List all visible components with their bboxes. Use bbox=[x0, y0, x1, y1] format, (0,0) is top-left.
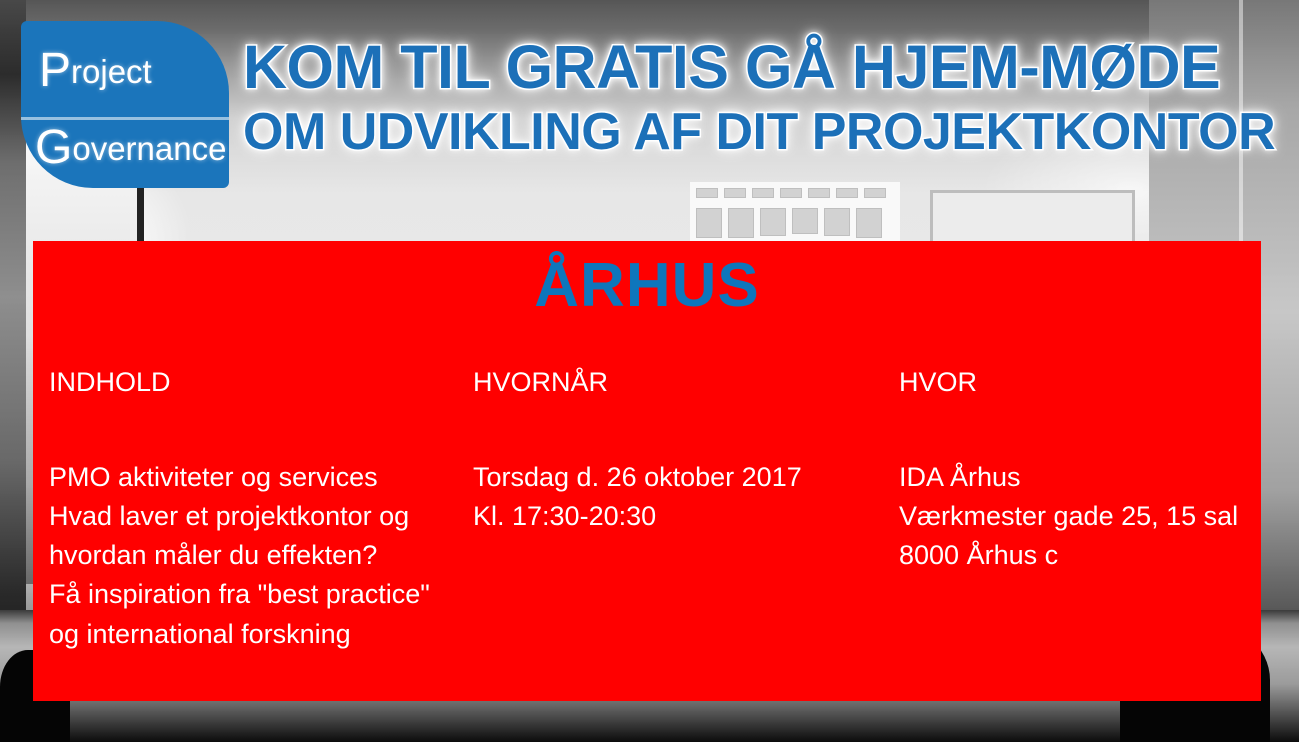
event-columns: INDHOLD PMO aktiviteter og services Hvad… bbox=[33, 369, 1261, 654]
column-line: Værkmester gade 25, 15 sal bbox=[899, 497, 1261, 536]
logo-divider bbox=[21, 117, 229, 120]
column-line: og international forskning bbox=[49, 615, 473, 654]
photo-whiteboard bbox=[690, 182, 900, 248]
column-hvornaar: HVORNÅR Torsdag d. 26 oktober 2017 Kl. 1… bbox=[473, 369, 899, 654]
photo-sticky-note bbox=[836, 188, 858, 198]
photo-sticky-note bbox=[696, 208, 722, 238]
poster-root: Project Governance KOM TIL GRATIS GÅ HJE… bbox=[0, 0, 1299, 742]
column-heading: INDHOLD bbox=[49, 369, 473, 396]
project-governance-logo: Project Governance bbox=[21, 21, 229, 188]
column-hvor: HVOR IDA Århus Værkmester gade 25, 15 sa… bbox=[899, 369, 1261, 654]
photo-sticky-note bbox=[808, 188, 830, 198]
column-line: PMO aktiviteter og services bbox=[49, 458, 473, 497]
column-line: Hvad laver et projektkontor og bbox=[49, 497, 473, 536]
logo-initial-g: G bbox=[35, 121, 72, 174]
photo-sticky-note bbox=[724, 188, 746, 198]
column-line: hvordan måler du effekten? bbox=[49, 536, 473, 575]
photo-sticky-note bbox=[792, 208, 818, 234]
city-title: ÅRHUS bbox=[33, 255, 1261, 317]
logo-word-governance: overnance bbox=[72, 130, 226, 167]
event-info-panel: ÅRHUS INDHOLD PMO aktiviteter og service… bbox=[33, 241, 1261, 701]
photo-sticky-note bbox=[760, 208, 786, 236]
logo-word-project: roject bbox=[71, 53, 152, 90]
column-heading: HVORNÅR bbox=[473, 369, 899, 396]
column-indhold: INDHOLD PMO aktiviteter og services Hvad… bbox=[33, 369, 473, 654]
column-line: Få inspiration fra "best practice" bbox=[49, 575, 473, 614]
photo-sticky-note bbox=[824, 208, 850, 236]
photo-sticky-note bbox=[856, 208, 882, 238]
logo-initial-p: P bbox=[39, 44, 71, 97]
logo-line-governance: Governance bbox=[21, 124, 229, 172]
column-line: Torsdag d. 26 oktober 2017 bbox=[473, 458, 899, 497]
column-line: Kl. 17:30-20:30 bbox=[473, 497, 899, 536]
photo-sticky-note bbox=[780, 188, 802, 198]
column-line: 8000 Århus c bbox=[899, 536, 1261, 575]
photo-presentation-board bbox=[930, 190, 1135, 248]
photo-sticky-note bbox=[752, 188, 774, 198]
logo-line-project: Project bbox=[21, 47, 229, 95]
headline: KOM TIL GRATIS GÅ HJEM-MØDE OM UDVIKLING… bbox=[243, 36, 1293, 160]
headline-line-2: OM UDVIKLING AF DIT PROJEKTKONTOR bbox=[243, 105, 1293, 159]
photo-sticky-note bbox=[696, 188, 718, 198]
column-line: IDA Århus bbox=[899, 458, 1261, 497]
column-heading: HVOR bbox=[899, 369, 1261, 396]
photo-sticky-note bbox=[728, 208, 754, 238]
headline-line-1: KOM TIL GRATIS GÅ HJEM-MØDE bbox=[243, 36, 1293, 99]
photo-sticky-note bbox=[864, 188, 886, 198]
